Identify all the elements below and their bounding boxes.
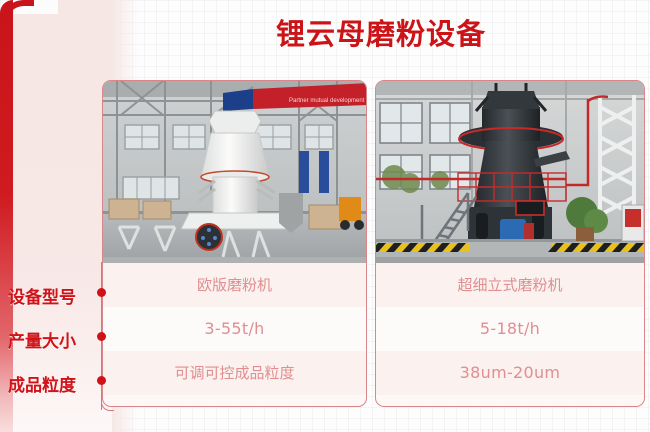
spec-row-label: 产量大小 xyxy=(8,327,86,352)
spec-value: 超细立式磨粉机 xyxy=(376,263,644,307)
equipment-photo-left: Partner mutual development xyxy=(103,81,366,263)
spec-values-left: 欧版磨粉机 3-55t/h 可调可控成品粒度 xyxy=(103,263,366,395)
bullet-dot-icon xyxy=(97,288,106,297)
spec-row-label: 成品粒度 xyxy=(8,371,86,396)
spec-value: 5-18t/h xyxy=(376,307,644,351)
infographic-canvas: 锂云母磨粉设备 xyxy=(0,0,650,432)
photo-right-scene xyxy=(376,81,644,263)
equipment-card-right: 超细立式磨粉机 5-18t/h 38um-20um xyxy=(375,80,645,407)
spec-value: 38um-20um xyxy=(376,351,644,395)
left-pink-wash-panel xyxy=(0,0,112,432)
left-red-accent-bar xyxy=(0,0,13,432)
spec-value: 3-55t/h xyxy=(103,307,366,351)
equipment-photo-right xyxy=(376,81,644,263)
bullet-dot-icon xyxy=(97,332,106,341)
bullet-dot-icon xyxy=(97,376,106,385)
photo-left-scene: Partner mutual development xyxy=(103,81,366,263)
svg-text:Partner mutual development: Partner mutual development xyxy=(289,98,365,104)
spec-row-label: 设备型号 xyxy=(8,283,86,308)
spec-value: 欧版磨粉机 xyxy=(103,263,366,307)
spec-values-right: 超细立式磨粉机 5-18t/h 38um-20um xyxy=(376,263,644,395)
equipment-card-left: Partner mutual development xyxy=(102,80,367,407)
spec-value: 可调可控成品粒度 xyxy=(103,351,366,395)
page-title: 锂云母磨粉设备 xyxy=(112,14,650,54)
